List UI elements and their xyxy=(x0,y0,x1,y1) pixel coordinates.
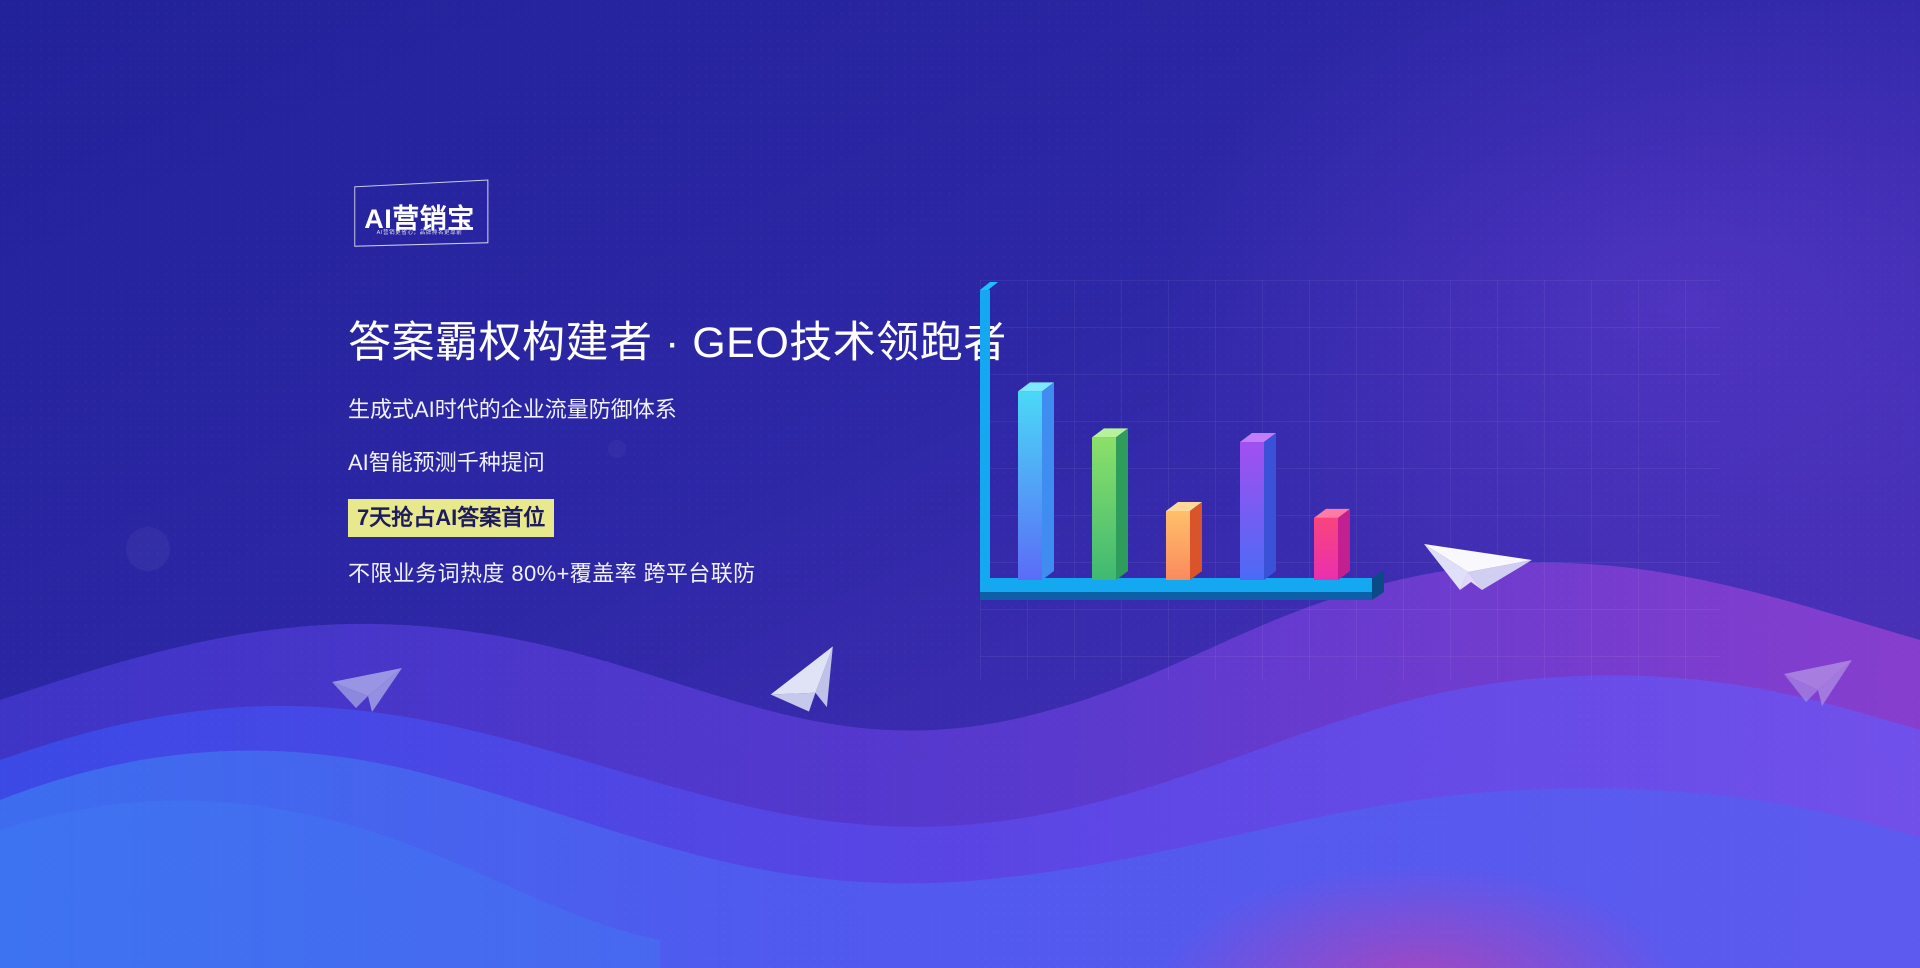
chart-bar-4 xyxy=(1240,433,1276,580)
page-title: 答案霸权构建者 · GEO技术领跑者 xyxy=(348,318,1048,370)
bar-chart xyxy=(980,290,1450,670)
hero-subline-4: 不限业务词热度 80%+覆盖率 跨平台联防 xyxy=(348,560,1048,588)
hero-highlight-badge: 7天抢占AI答案首位 xyxy=(348,499,554,538)
hero-highlight-wrap: 7天抢占AI答案首位 xyxy=(348,477,1048,538)
chart-y-axis xyxy=(980,282,998,590)
logo-tagline: AI营销更省心，品牌排名更靠前 xyxy=(377,228,463,236)
hero-banner: AI营销宝 AI营销更省心，品牌排名更靠前 答案霸权构建者 · GEO技术领跑者… xyxy=(0,0,1920,968)
chart-bars xyxy=(1018,382,1350,580)
chart-bar-5 xyxy=(1314,509,1350,580)
hero-copy: 答案霸权构建者 · GEO技术领跑者 生成式AI时代的企业流量防御体系 AI智能… xyxy=(348,318,1048,588)
chart-bar-3 xyxy=(1166,502,1202,580)
chart-bar-2 xyxy=(1092,428,1128,580)
chart-bar-1 xyxy=(1018,382,1054,580)
brand-logo[interactable]: AI营销宝 AI营销更省心，品牌排名更靠前 xyxy=(352,183,487,245)
hero-subline-2: AI智能预测千种提问 xyxy=(348,449,1048,477)
hero-subline-1: 生成式AI时代的企业流量防御体系 xyxy=(348,396,1048,424)
